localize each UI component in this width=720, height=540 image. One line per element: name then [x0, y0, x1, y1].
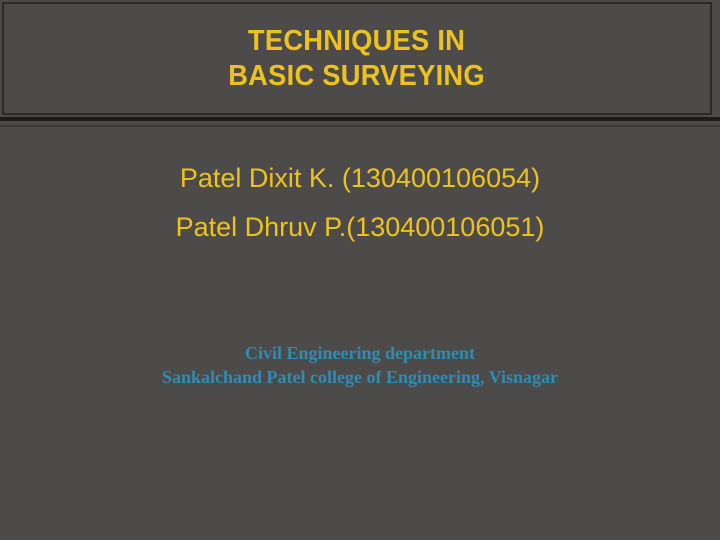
title-placeholder-box[interactable]: TECHNIQUES IN BASIC SURVEYING [2, 2, 712, 115]
divider-rule-thick [0, 117, 720, 121]
author-line-1: Patel Dixit K. (130400106054) [0, 154, 720, 203]
title-line-2: BASIC SURVEYING [229, 59, 486, 94]
affiliation-line-department: Civil Engineering department [0, 341, 720, 365]
presentation-slide: TECHNIQUES IN BASIC SURVEYING Patel Dixi… [0, 0, 720, 540]
divider-rule-thin [0, 125, 720, 127]
affiliation-placeholder[interactable]: Civil Engineering department Sankalchand… [0, 341, 720, 389]
affiliation-line-college: Sankalchand Patel college of Engineering… [0, 365, 720, 389]
author-line-2: Patel Dhruv P.(130400106051) [0, 203, 720, 252]
title-line-1: TECHNIQUES IN [248, 24, 465, 59]
authors-placeholder[interactable]: Patel Dixit K. (130400106054) Patel Dhru… [0, 154, 720, 252]
